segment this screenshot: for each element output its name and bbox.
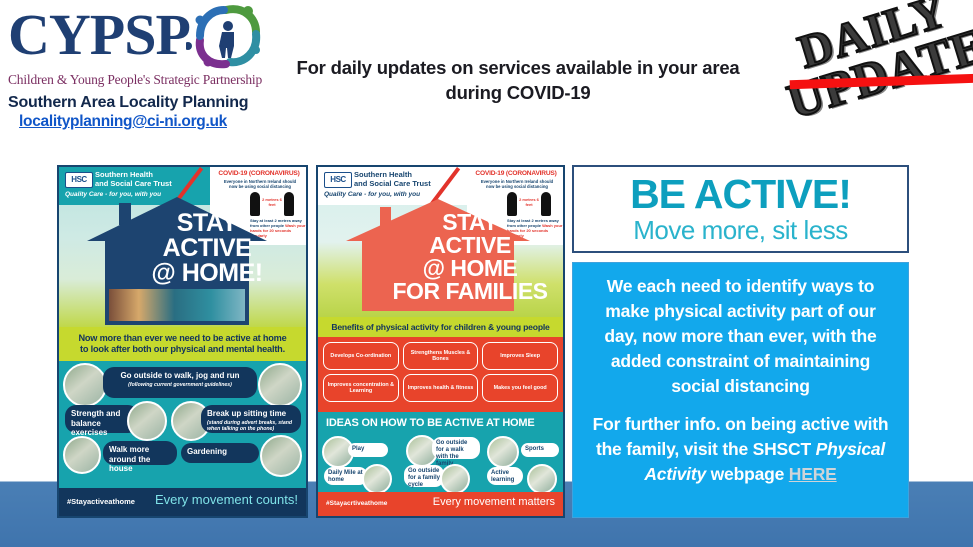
info-paragraph-1: We each need to identify ways to make ph… [587,274,894,399]
cypsp-tagline: Children & Young People's Strategic Part… [8,72,258,88]
page-title: For daily updates on services available … [278,55,758,105]
benefit-card: Develops Co-ordination [323,342,399,370]
activity-photo-circle [63,436,101,474]
house-illustration-2: STAY ACTIVE @ HOME FOR FAMILIES [346,199,530,311]
page-header: CYPSP [0,0,973,160]
poster-left-title: STAY ACTIVE @ HOME! [133,211,281,286]
idea-photo-circle [440,464,470,494]
page-title-line2: during COVID-19 [278,80,758,105]
band-line2: to look after both our physical and ment… [80,344,285,354]
covid-heading-2: COVID-19 (CORONAVIRUS) [471,170,561,177]
benefit-card: Improves health & fitness [403,374,479,402]
activity-tile: Break up sitting time (stand during adve… [201,405,301,433]
activity-tile-sub: (following current government guidelines… [109,382,251,388]
activity-tile: Walk more around the house [103,441,177,465]
band-line1: Now more than ever we need to be active … [78,333,286,343]
ideas-heading-band: IDEAS ON HOW TO BE ACTIVE AT HOME [318,412,563,434]
poster-middle-title: STAY ACTIVE @ HOME FOR FAMILIES [384,211,556,303]
poster-middle-band-text: Benefits of physical activity for childr… [331,322,549,332]
trust-name-line2: and Social Care Trust [95,179,172,188]
hsc-logo-icon-2: HSC [324,172,352,188]
contact-email-link[interactable]: localityplanning@ci-ni.org.uk [8,113,238,131]
be-active-subhead: Move more, sit less [574,216,907,244]
activity-tile-label: Walk more around the house [109,445,150,473]
house-illustration: STAY ACTIVE @ HOME! [87,197,267,325]
poster-middle-title-line4: FOR FAMILIES [384,280,556,303]
activity-photo-circle [127,401,167,441]
trust-name: Southern Health and Social Care Trust [95,170,172,188]
page-root: CYPSP [0,0,973,547]
ideas-heading: IDEAS ON HOW TO BE ACTIVE AT HOME [326,417,535,429]
poster-middle-title-line2: ACTIVE [384,234,556,257]
idea-photo-circle [487,436,519,468]
info-panel: We each need to identify ways to make ph… [572,262,909,518]
page-title-line1: For daily updates on services available … [278,55,758,80]
poster-middle-title-line3: @ HOME [384,257,556,280]
poster-left-footer: #Stayactiveathome Every movement counts! [59,488,306,516]
poster-middle-hashtag: #Stayacrtiveathome [326,500,387,507]
idea-card: Active learning [487,467,523,485]
trust-name-2: Southern Health and Social Care Trust [354,170,431,188]
benefits-row: Improves concentration & Learning Improv… [323,374,558,402]
poster-left-hero: HSC Southern Health and Social Care Trus… [59,167,306,327]
poster-left-message: Now more than ever we need to be active … [78,333,286,355]
locality-subtitle: Southern Area Locality Planning [8,94,238,112]
activity-tile-label: Strength and balance exercises [71,409,120,437]
info-paragraph-2: For further info. on being active with t… [587,412,894,487]
benefit-card: Improves Sleep [482,342,558,370]
idea-card: Go outside for a walk with the family [432,437,480,459]
poster-middle-benefits-band: Benefits of physical activity for childr… [318,317,563,337]
activity-photo-circle [260,435,302,477]
activity-tile: Go outside to walk, jog and run (followi… [103,367,257,398]
poster-left-hashtag: #Stayactiveathome [67,497,135,506]
be-active-banner: BE ACTIVE! Move more, sit less [572,165,909,253]
here-link[interactable]: HERE [789,464,837,484]
activity-photo-circle [63,363,107,407]
be-active-headline: BE ACTIVE! [574,172,907,216]
poster-stay-active-for-families[interactable]: HSC Southern Health and Social Care Trus… [316,165,565,518]
trust-name-2-line1: Southern Health [354,170,431,179]
poster-left-title-line2: ACTIVE [133,236,281,261]
hsc-logo-icon: HSC [65,172,93,188]
poster-left-message-band: Now more than ever we need to be active … [59,327,306,361]
activity-photo-circle [258,363,302,407]
activity-tile-sub: (stand during advert breaks, stand when … [207,420,295,432]
cypsp-wordmark: CYPSP [8,8,190,62]
idea-card: Play [348,443,388,457]
activity-tile-label: Break up sitting time [207,409,286,418]
idea-card: Sports [521,443,559,457]
idea-photo-circle [527,464,557,494]
trust-strapline-2: Quality Care - for you, with you [324,191,420,198]
idea-photo-circle [362,464,392,494]
benefits-grid: Develops Co-ordination Strengthens Muscl… [318,337,563,412]
activity-tile-label: Go outside to walk, jog and run [120,371,239,380]
idea-card: Go outside for a family cycle [404,465,444,487]
covid-subtext-2: Everyone in Northern Ireland should now … [477,179,557,189]
person-figure-icon-2 [284,192,294,216]
poster-left-title-line3: @ HOME! [133,261,281,286]
poster-middle-title-line1: STAY [384,211,556,234]
cypsp-swirl-people-logo [186,2,264,74]
poster-middle-footer-message: Every movement matters [433,496,555,508]
daily-update-stamp: DAILY UPDATE [795,0,973,140]
benefits-row: Develops Co-ordination Strengthens Muscl… [323,342,558,370]
trust-name-line1: Southern Health [95,170,172,179]
poster-middle-hero: HSC Southern Health and Social Care Trus… [318,167,563,317]
activity-tile: Gardening [181,443,259,463]
poster-left-title-line1: STAY [133,211,281,236]
covid-subtext: Everyone in Northern Ireland should now … [220,179,300,189]
benefit-card: Improves concentration & Learning [323,374,399,402]
benefit-card: Makes you feel good [482,374,558,402]
poster-left-activity-grid: Go outside to walk, jog and run (followi… [59,361,306,486]
cypsp-logo-block: CYPSP [8,8,258,131]
activity-tile-label: Gardening [187,447,227,456]
poster-stay-active-at-home[interactable]: HSC Southern Health and Social Care Trus… [57,165,308,518]
benefit-card: Strengthens Muscles & Bones [403,342,479,370]
trust-name-2-line2: and Social Care Trust [354,179,431,188]
poster-middle-footer: #Stayacrtiveathome Every movement matter… [318,492,563,516]
poster-left-footer-message: Every movement counts! [155,492,298,507]
room-interior-illustration [109,289,245,321]
info-paragraph-2-part-b: webpage [706,464,789,484]
covid-heading: COVID-19 (CORONAVIRUS) [214,170,304,177]
